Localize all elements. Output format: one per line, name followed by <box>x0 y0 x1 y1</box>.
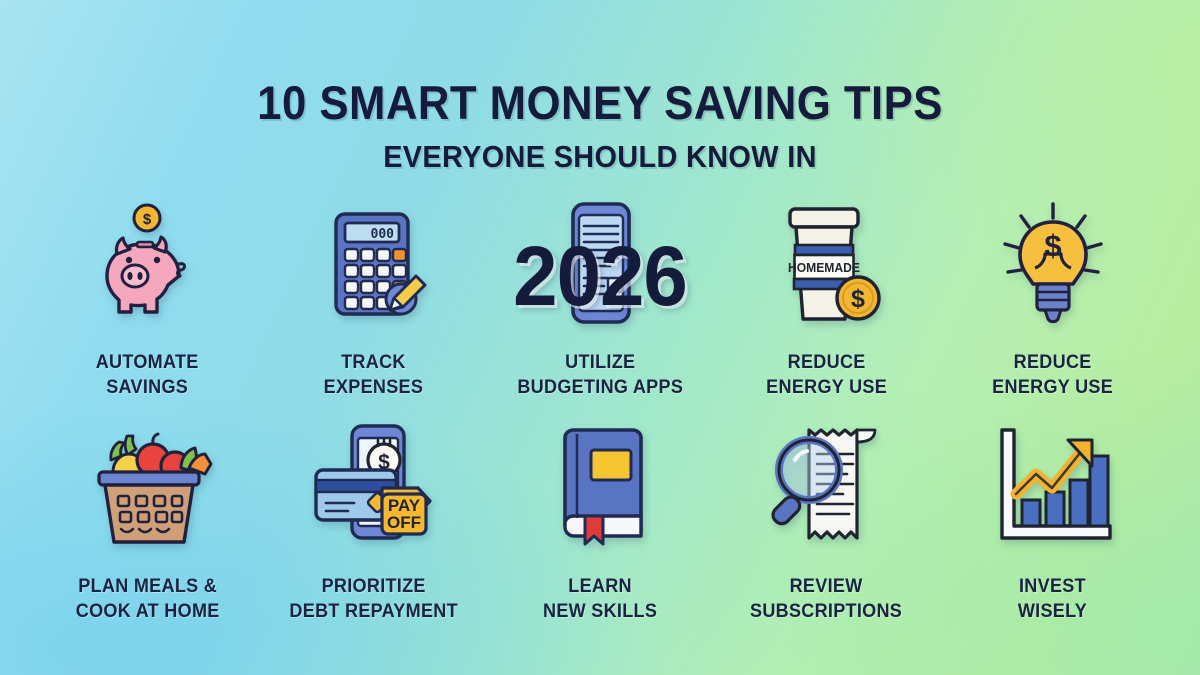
book-icon <box>525 416 675 566</box>
tips-grid: $ AUTOMATE SAVINGS <box>34 196 1166 630</box>
tip-label: TRACK EXPENSES <box>324 350 424 400</box>
tip-label: AUTOMATE SAVINGS <box>96 350 199 400</box>
tip-card-invest-wisely[interactable]: INVEST WISELY <box>940 416 1166 630</box>
header-block: 10 SMART MONEY SAVING TIPS EVERYONE SHOU… <box>0 78 1200 174</box>
infographic-canvas: 10 SMART MONEY SAVING TIPS EVERYONE SHOU… <box>0 0 1200 675</box>
svg-text:HOMEMADE: HOMEMADE <box>788 261 860 275</box>
tip-card-learn-new-skills[interactable]: LEARN NEW SKILLS <box>487 416 713 630</box>
tip-label: REDUCE ENERGY USE <box>766 350 887 400</box>
tip-card-reduce-energy-bulb[interactable]: $ REDUCE ENERGY USE <box>940 196 1166 410</box>
tip-card-debt-repayment[interactable]: $ PAY OFF PRIORITIZE DEBT REPAYME <box>260 416 486 630</box>
magnifier-receipt-icon <box>751 416 901 566</box>
piggy-bank-icon: $ <box>72 196 222 336</box>
svg-text:$: $ <box>851 285 865 313</box>
svg-text:OFF: OFF <box>387 513 421 532</box>
page-subtitle: EVERYONE SHOULD KNOW IN <box>42 140 1158 174</box>
calculator-icon: 000 <box>299 196 449 336</box>
tip-card-reduce-energy-coffee[interactable]: HOMEMADE $ REDUCE ENERGY USE <box>713 196 939 410</box>
tip-label: INVEST WISELY <box>1018 574 1087 624</box>
page-title: 10 SMART MONEY SAVING TIPS <box>42 78 1158 128</box>
credit-card-payoff-icon: $ PAY OFF <box>299 416 449 566</box>
svg-text:$: $ <box>143 211 152 228</box>
tip-card-automate-savings[interactable]: $ AUTOMATE SAVINGS <box>34 196 260 410</box>
tip-card-budgeting-apps[interactable]: UTILIZE BUDGETING APPS <box>487 196 713 410</box>
tip-label: PRIORITIZE DEBT REPAYMENT <box>289 574 457 624</box>
tip-label: LEARN NEW SKILLS <box>543 574 657 624</box>
coffee-cup-icon: HOMEMADE $ <box>751 196 901 336</box>
tip-label: REVIEW SUBSCRIPTIONS <box>750 574 902 624</box>
grocery-basket-icon <box>72 416 222 566</box>
smartphone-budget-app-icon <box>525 196 675 336</box>
tip-label: PLAN MEALS & COOK AT HOME <box>75 574 219 624</box>
svg-text:$: $ <box>1044 228 1061 263</box>
tip-card-track-expenses[interactable]: 000 TRACK EXPENSES <box>260 196 486 410</box>
svg-text:000: 000 <box>370 227 394 242</box>
growth-chart-icon <box>978 416 1128 566</box>
tip-card-plan-meals[interactable]: PLAN MEALS & COOK AT HOME <box>34 416 260 630</box>
tip-label: UTILIZE BUDGETING APPS <box>517 350 683 400</box>
tip-label: REDUCE ENERGY USE <box>992 350 1113 400</box>
tip-card-review-subscriptions[interactable]: REVIEW SUBSCRIPTIONS <box>713 416 939 630</box>
lightbulb-dollar-icon: $ <box>978 196 1128 336</box>
